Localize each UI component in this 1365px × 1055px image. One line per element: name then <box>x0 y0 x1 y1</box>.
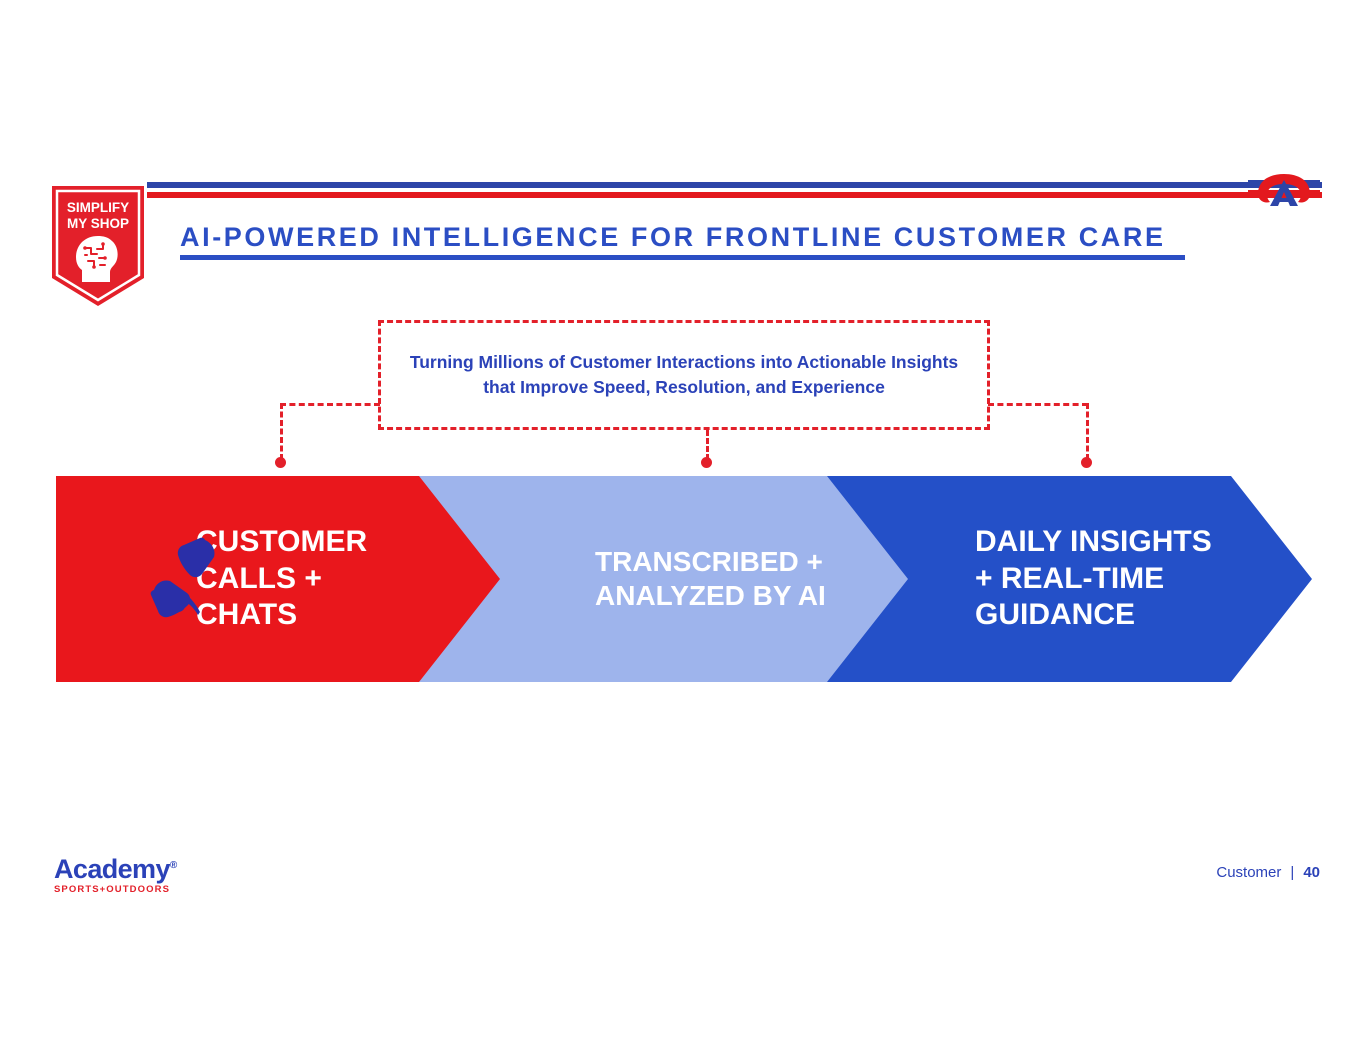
footer-meta: Customer | 40 <box>1216 864 1320 881</box>
page-number: 40 <box>1303 864 1320 881</box>
connector-left-vertical <box>280 403 283 460</box>
footer-separator: | <box>1290 864 1294 881</box>
footer-section-label: Customer <box>1216 864 1281 881</box>
process-step-customer-calls-chats[interactable]: CUSTOMER CALLS + CHATS <box>56 476 504 682</box>
header-rule-red <box>147 192 1322 198</box>
connector-center-dot <box>701 457 712 468</box>
svg-text:MY SHOP: MY SHOP <box>67 216 129 231</box>
process-step-label: DAILY INSIGHTS + REAL-TIME GUIDANCE <box>975 524 1212 634</box>
svg-text:SIMPLIFY: SIMPLIFY <box>67 200 129 215</box>
page-title: AI-POWERED INTELLIGENCE FOR FRONTLINE CU… <box>180 222 1190 253</box>
connector-left-horizontal <box>280 403 380 406</box>
header-rule-blue <box>147 182 1322 188</box>
process-flow: CUSTOMER CALLS + CHATS TRANSCRIBED + ANA… <box>56 476 1312 682</box>
simplify-my-shop-badge: SIMPLIFY MY SHOP <box>52 186 144 306</box>
connector-right-vertical <box>1086 403 1089 460</box>
process-step-label: TRANSCRIBED + ANALYZED BY AI <box>595 545 826 613</box>
registered-mark-icon: ® <box>170 860 177 871</box>
connector-right-dot <box>1081 457 1092 468</box>
connector-left-dot <box>275 457 286 468</box>
academy-wordmark: Academy® <box>54 856 234 883</box>
academy-wordmark-text: Academy <box>54 854 170 884</box>
title-underline <box>180 255 1185 260</box>
slide-canvas: SIMPLIFY MY SHOP AI-POWERED INTELLIGENCE… <box>0 0 1365 1055</box>
callout-box: Turning Millions of Customer Interaction… <box>378 320 990 430</box>
phone-icon <box>142 534 228 624</box>
callout-text: Turning Millions of Customer Interaction… <box>381 350 987 401</box>
connector-right-horizontal <box>988 403 1088 406</box>
connector-center-vertical <box>706 430 709 460</box>
academy-a-icon <box>1248 168 1320 212</box>
academy-footer-logo: Academy® SPORTS+OUTDOORS <box>54 856 234 892</box>
academy-tagline: SPORTS+OUTDOORS <box>54 884 234 895</box>
